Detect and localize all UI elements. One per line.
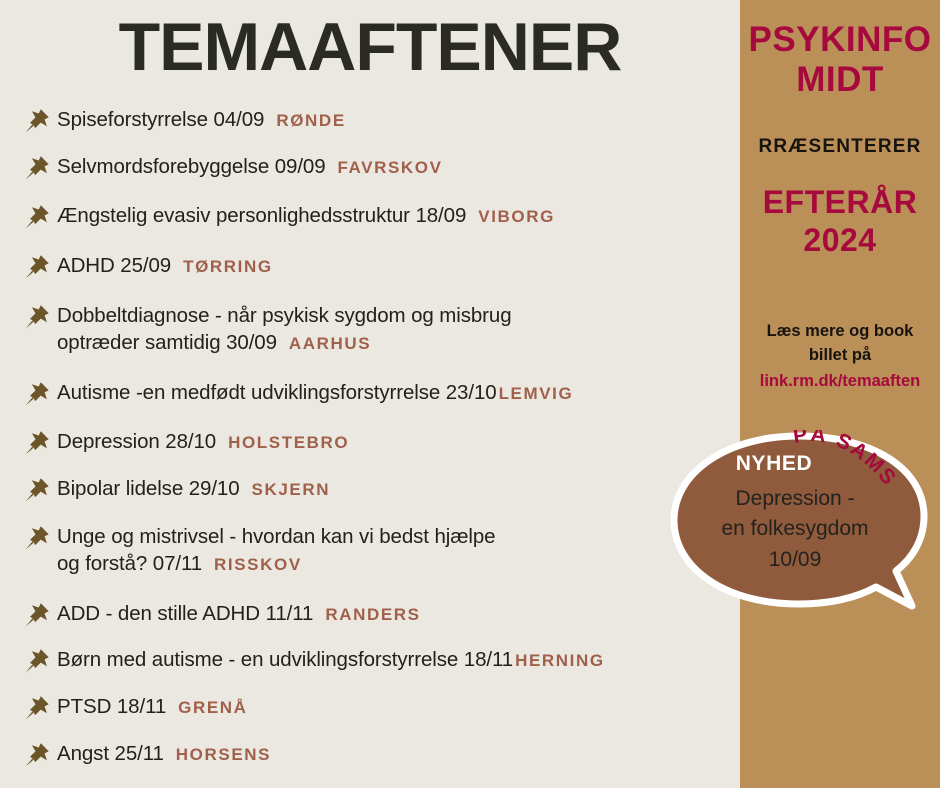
event-city: RANDERS — [325, 605, 420, 624]
event-title: ADD - den stille ADHD 11/11 — [57, 602, 313, 625]
booking-text: Læs mere og book billet på — [767, 322, 914, 364]
event-text: Unge og mistrivsel - hvordan kan vi beds… — [57, 523, 495, 578]
event-city: RISSKOV — [214, 555, 302, 574]
list-item[interactable]: Ængstelig evasiv personlighedsstruktur 1… — [24, 202, 555, 230]
event-title: Autisme -en medfødt udviklingsforstyrrel… — [57, 381, 497, 404]
event-city: HERNING — [515, 651, 605, 670]
event-title: PTSD 18/11 — [57, 695, 166, 718]
event-subtitle: optræder samtidig 30/09 — [57, 331, 277, 354]
pushpin-icon — [24, 477, 50, 503]
pushpin-icon — [24, 108, 50, 134]
pushpin-icon — [24, 525, 50, 551]
pushpin-icon — [24, 254, 50, 280]
event-subtitle: og forstå? 07/11 — [57, 552, 202, 575]
list-item[interactable]: Unge og mistrivsel - hvordan kan vi beds… — [24, 523, 495, 578]
pushpin-icon — [24, 381, 50, 407]
pushpin-icon — [24, 304, 50, 330]
brand-name-line1: PSYKINFO — [740, 22, 940, 59]
event-title: Bipolar lidelse 29/10 — [57, 477, 240, 500]
event-text: ADHD 25/09TØRRING — [57, 252, 273, 279]
pushpin-icon — [24, 430, 50, 456]
poster-canvas: PSYKINFO MIDT RRÆSENTERER EFTERÅR 2024 L… — [0, 0, 940, 788]
brand-name-line2: MIDT — [740, 62, 940, 99]
list-item[interactable]: ADHD 25/09TØRRING — [24, 252, 273, 280]
list-item[interactable]: Bipolar lidelse 29/10SKJERN — [24, 475, 330, 503]
event-title: Angst 25/11 — [57, 742, 164, 765]
event-text: Dobbeltdiagnose - når psykisk sygdom og … — [57, 302, 512, 357]
event-city: VIBORG — [478, 207, 555, 226]
event-title: ADHD 25/09 — [57, 254, 171, 277]
event-title: Ængstelig evasiv personlighedsstruktur 1… — [57, 204, 466, 227]
event-text: Depression 28/10HOLSTEBRO — [57, 428, 349, 455]
pushpin-icon — [24, 742, 50, 768]
event-title: Dobbeltdiagnose - når psykisk sygdom og … — [57, 304, 512, 327]
event-title-line2: og forstå? 07/11RISSKOV — [57, 550, 495, 577]
pushpin-icon — [24, 695, 50, 721]
speech-bubble-shape — [662, 424, 940, 654]
year-label: 2024 — [740, 220, 940, 260]
event-text: Bipolar lidelse 29/10SKJERN — [57, 475, 330, 502]
event-title-line2: optræder samtidig 30/09AARHUS — [57, 329, 512, 356]
event-text: Selvmordsforebyggelse 09/09FAVRSKOV — [57, 153, 443, 180]
event-city: AARHUS — [289, 334, 371, 353]
event-title: Børn med autisme - en udviklingsforstyrr… — [57, 648, 513, 671]
list-item[interactable]: Autisme -en medfødt udviklingsforstyrrel… — [24, 379, 573, 407]
event-title: Unge og mistrivsel - hvordan kan vi beds… — [57, 525, 495, 548]
event-city: TØRRING — [183, 257, 273, 276]
event-text: Ængstelig evasiv personlighedsstruktur 1… — [57, 202, 555, 229]
pushpin-icon — [24, 204, 50, 230]
list-item[interactable]: Angst 25/11HORSENS — [24, 740, 271, 768]
presents-label: RRÆSENTERER — [740, 136, 940, 158]
sidebar-panel: PSYKINFO MIDT RRÆSENTERER EFTERÅR 2024 L… — [740, 0, 940, 788]
list-item[interactable]: Spiseforstyrrelse 04/09RØNDE — [24, 106, 346, 134]
event-city: HORSENS — [176, 745, 271, 764]
news-speech-bubble[interactable]: NYHED Depression - en folkesygdom 10/09 … — [662, 424, 940, 654]
season-label: EFTERÅR — [740, 182, 940, 222]
list-item[interactable]: PTSD 18/11GRENÅ — [24, 693, 248, 721]
booking-link[interactable]: link.rm.dk/temaaften — [746, 370, 934, 394]
booking-info: Læs mere og book billet på link.rm.dk/te… — [746, 320, 934, 394]
event-city: RØNDE — [276, 111, 345, 130]
event-city: LEMVIG — [499, 384, 574, 403]
list-item[interactable]: Depression 28/10HOLSTEBRO — [24, 428, 349, 456]
list-item[interactable]: Selvmordsforebyggelse 09/09FAVRSKOV — [24, 153, 443, 181]
event-city: HOLSTEBRO — [228, 433, 349, 452]
pushpin-icon — [24, 648, 50, 674]
event-title: Depression 28/10 — [57, 430, 216, 453]
event-city: SKJERN — [252, 480, 331, 499]
list-item[interactable]: Børn med autisme - en udviklingsforstyrr… — [24, 646, 605, 674]
event-text: Autisme -en medfødt udviklingsforstyrrel… — [57, 379, 573, 406]
event-title: Spiseforstyrrelse 04/09 — [57, 108, 264, 131]
pushpin-icon — [24, 602, 50, 628]
list-item[interactable]: ADD - den stille ADHD 11/11RANDERS — [24, 600, 421, 628]
list-item[interactable]: Dobbeltdiagnose - når psykisk sygdom og … — [24, 302, 512, 357]
event-text: Spiseforstyrrelse 04/09RØNDE — [57, 106, 346, 133]
pushpin-icon — [24, 155, 50, 181]
page-title: TEMAAFTENER — [0, 8, 740, 86]
event-city: GRENÅ — [178, 698, 247, 717]
event-text: Børn med autisme - en udviklingsforstyrr… — [57, 646, 605, 673]
event-text: Angst 25/11HORSENS — [57, 740, 271, 767]
event-text: ADD - den stille ADHD 11/11RANDERS — [57, 600, 421, 627]
event-title: Selvmordsforebyggelse 09/09 — [57, 155, 326, 178]
event-city: FAVRSKOV — [338, 158, 443, 177]
event-text: PTSD 18/11GRENÅ — [57, 693, 248, 720]
